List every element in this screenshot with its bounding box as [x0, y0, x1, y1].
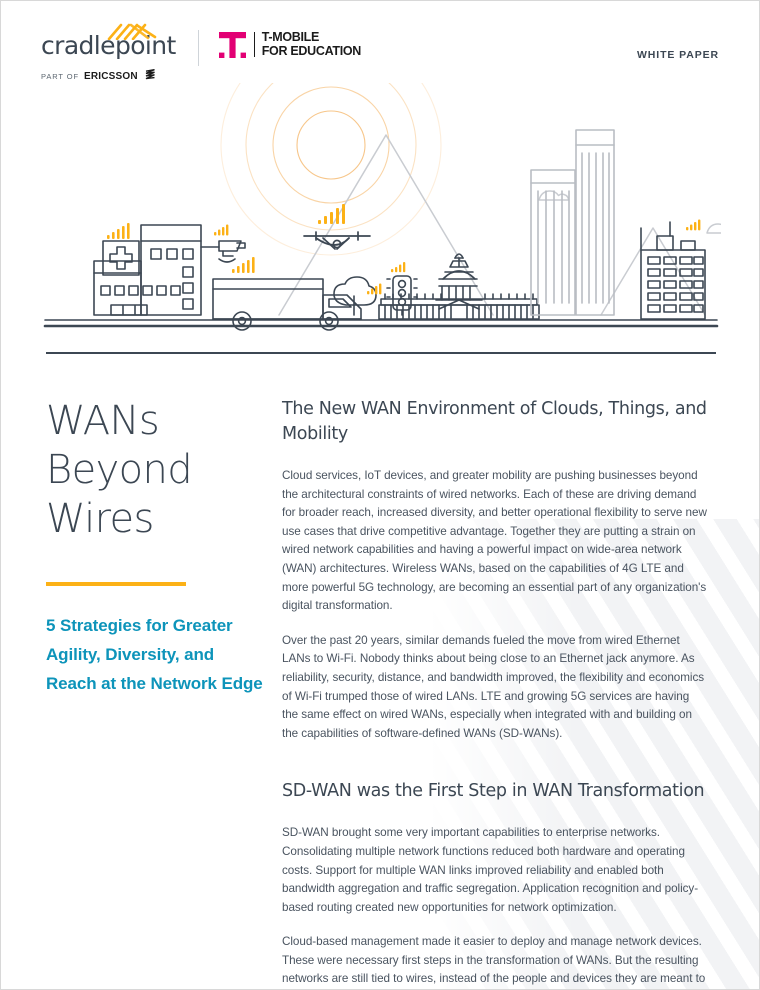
security-camera-icon [201, 241, 245, 262]
body-area: WANs Beyond Wires 5 Strategies for Great… [46, 397, 718, 990]
hospital-signal-bars-icon [107, 223, 130, 239]
title-orange-rule [46, 582, 186, 586]
header-section-divider [46, 352, 716, 354]
page-title: WANs Beyond Wires [46, 397, 266, 544]
right-tower-icon [641, 222, 705, 319]
white-paper-page: cradlepoint PART OF ERICSSON [0, 0, 760, 990]
hero-illustration [41, 83, 721, 333]
tmobile-t-icon [219, 32, 246, 58]
article-column: The New WAN Environment of Clouds, Thing… [282, 397, 708, 990]
brand-lockup-group: cradlepoint PART OF ERICSSON [41, 27, 361, 85]
tree-icon [334, 277, 376, 315]
brand-divider [198, 30, 199, 66]
section-2-paragraph-1: SD-WAN brought some very important capab… [282, 824, 708, 917]
white-paper-label: WHITE PAPER [637, 27, 719, 61]
signal-bars-icon [318, 204, 345, 224]
section-1-paragraph-2: Over the past 20 years, similar demands … [282, 632, 708, 744]
title-column: WANs Beyond Wires 5 Strategies for Great… [46, 397, 282, 698]
tmobile-line-2: FOR EDUCATION [262, 45, 361, 59]
tmobile-wordmark: T-MOBILE FOR EDUCATION [262, 31, 361, 58]
part-of-label: PART OF [41, 72, 79, 81]
camera-signal-bars-icon [214, 225, 228, 236]
section-heading-2: SD-WAN was the First Step in WAN Transfo… [282, 779, 708, 804]
traffic-signal-bars-icon [391, 262, 405, 272]
drone-icon [304, 232, 370, 249]
section-2-paragraph-2: Cloud-based management made it easier to… [282, 933, 708, 990]
tower-signal-bars-icon [686, 220, 700, 231]
tmobile-rule [254, 32, 255, 57]
office-tower-icon [531, 130, 614, 315]
ericsson-wordmark: ERICSSON [84, 71, 138, 82]
delivery-truck-icon [213, 279, 361, 330]
cloud-icon [539, 191, 721, 233]
section-1-paragraph-1: Cloud services, IoT devices, and greater… [282, 467, 708, 616]
hospital-building-icon [94, 225, 201, 315]
cradlepoint-arcs-icon [107, 23, 159, 40]
cradlepoint-logo[interactable]: cradlepoint PART OF ERICSSON [41, 27, 176, 85]
signal-rings [221, 83, 441, 255]
page-subtitle: 5 Strategies for Greater Agility, Divers… [46, 611, 266, 698]
tmobile-for-education-logo[interactable]: T-MOBILE FOR EDUCATION [219, 27, 361, 58]
page-header: cradlepoint PART OF ERICSSON [41, 27, 719, 89]
tmobile-line-1: T-MOBILE [262, 31, 361, 45]
section-heading-1: The New WAN Environment of Clouds, Thing… [282, 397, 708, 447]
